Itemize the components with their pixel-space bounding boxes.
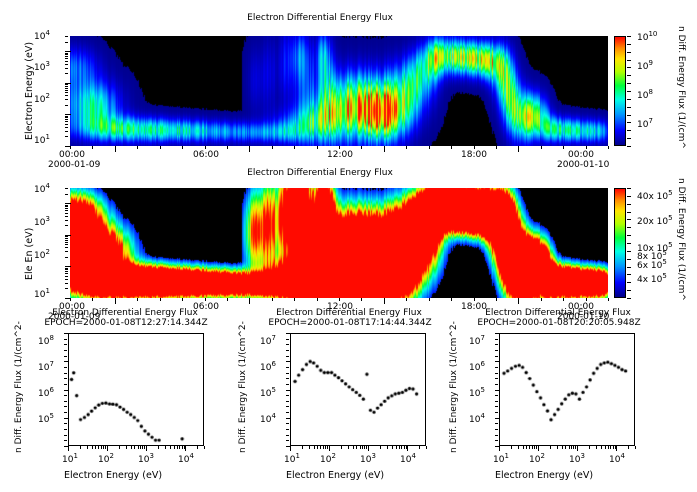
x-minor-tick (204, 446, 205, 449)
y-minor-tick (65, 216, 68, 217)
y-minor-tick (65, 136, 68, 137)
xtick-exponent: 4 (620, 452, 624, 460)
x-minor-tick (605, 446, 606, 449)
x-minor-tick (348, 446, 349, 449)
spectrum-1-ytick-2: 106 (38, 389, 54, 399)
y-minor-tick (65, 236, 68, 237)
panel-top-cbtick-1: 109 (637, 62, 653, 72)
y-minor-tick (65, 92, 68, 93)
x-minor-tick (429, 146, 430, 149)
x-minor-tick (320, 446, 321, 449)
colorbar-tick (627, 122, 631, 123)
y-minor-tick (65, 242, 68, 243)
cbtick-mantissa: 10 (637, 62, 648, 72)
y-minor-tick (495, 418, 500, 419)
y-minor-tick (65, 119, 68, 120)
colorbar-tick (627, 75, 631, 76)
x-minor-tick (325, 446, 326, 449)
x-minor-tick (362, 446, 363, 449)
x-minor-tick (182, 146, 183, 149)
x-minor-tick (364, 446, 365, 449)
ytick-mantissa: 10 (38, 337, 49, 347)
x-minor-tick (137, 146, 138, 149)
colorbar-tick (627, 115, 631, 116)
y-minor-tick (65, 194, 68, 195)
spectrum-3-ylabel-wrap: n Diff. Energy Flux (1/(cm^2- (449, 453, 581, 463)
y-minor-tick (65, 240, 68, 241)
y-minor-tick (65, 238, 68, 239)
ytick-exponent: 4 (45, 182, 49, 190)
y-minor-tick (495, 429, 498, 430)
xtick-mantissa: 10 (320, 455, 331, 465)
spectrum-3-title: Electron Differential Energy Flux (463, 308, 653, 318)
x-minor-tick (406, 146, 407, 149)
x-minor-tick (323, 446, 324, 449)
colorbar-tick (627, 251, 631, 252)
y-minor-tick (64, 423, 67, 424)
panel-middle-ytick-4: 104 (34, 185, 50, 195)
spectrum-3-plot (499, 333, 635, 446)
x-minor-tick (541, 146, 542, 149)
y-minor-tick (65, 131, 68, 132)
y-minor-tick (495, 406, 498, 407)
spectrum-1-ylabel-wrap: n Diff. Energy Flux (1/(cm^2- (14, 453, 146, 463)
x-minor-tick (177, 446, 178, 449)
colorbar-tick (627, 212, 631, 213)
colorbar-tick (627, 196, 631, 197)
spectrum-3-ytick-2: 105 (469, 389, 485, 399)
y-minor-tick (495, 373, 498, 374)
colorbar-tick (627, 219, 631, 220)
y-minor-tick (286, 339, 289, 340)
colorbar-tick (627, 83, 631, 84)
xtick-mantissa: 10 (98, 455, 109, 465)
ytick-exponent: 4 (271, 412, 275, 420)
x-minor-tick (227, 298, 228, 301)
x-minor-tick (608, 298, 609, 301)
x-minor-tick (426, 446, 427, 449)
ytick-mantissa: 10 (34, 218, 45, 228)
ytick-exponent: 5 (49, 412, 53, 420)
spectrum-2-ylabel-wrap: n Diff. Energy Flux (1/(cm^2- (238, 453, 370, 463)
y-minor-tick (64, 418, 69, 419)
x-minor-tick (589, 446, 590, 449)
x-minor-tick (526, 446, 527, 449)
y-minor-tick (495, 412, 498, 413)
xtick-exponent: 4 (189, 452, 193, 460)
xtick-mantissa: 10 (529, 455, 540, 465)
panel-top-ytick-4: 104 (34, 32, 50, 42)
x-minor-tick (92, 146, 93, 149)
ytick-exponent: 1 (45, 133, 49, 141)
ytick-exponent: 7 (49, 360, 53, 368)
y-minor-tick (65, 127, 68, 128)
x-minor-tick (103, 446, 104, 449)
y-minor-tick (495, 384, 498, 385)
y-minor-tick (286, 344, 289, 345)
x-minor-tick (361, 298, 362, 301)
spectrum-1-xlabel: Electron Energy (eV) (64, 470, 162, 481)
y-minor-tick (65, 268, 68, 269)
x-minor-tick (339, 298, 340, 301)
spectrum-1-xtick-2: 103 (138, 455, 154, 465)
x-minor-tick (115, 298, 116, 304)
cbtick-exponent: 9 (648, 59, 652, 67)
x-minor-tick (179, 446, 180, 449)
y-minor-tick (495, 361, 500, 362)
ytick-exponent: 1 (45, 287, 49, 295)
x-minor-tick (294, 298, 295, 301)
x-minor-tick (87, 446, 88, 449)
ytick-mantissa: 10 (469, 363, 480, 373)
x-minor-tick (80, 446, 81, 449)
xtick-exponent: 1 (295, 452, 299, 460)
ytick-mantissa: 10 (34, 251, 45, 261)
y-minor-tick (64, 406, 67, 407)
panel-middle-colorbar (614, 188, 626, 298)
y-minor-tick (65, 90, 68, 91)
spectrum-panel-3: Electron Differential Energy Flux EPOCH=… (455, 305, 697, 492)
x-minor-tick (557, 446, 558, 449)
x-minor-tick (586, 298, 587, 301)
x-minor-tick (596, 446, 597, 449)
ytick-exponent: 6 (480, 360, 484, 368)
x-minor-tick (429, 298, 430, 301)
x-minor-tick (170, 446, 171, 449)
y-minor-tick (495, 435, 498, 436)
spectrum-2-ytick-1: 106 (260, 363, 276, 373)
colorbar-tick (627, 99, 631, 100)
xtick-mantissa: 10 (360, 455, 371, 465)
x-minor-tick (538, 446, 539, 451)
x-minor-tick (511, 446, 512, 449)
ytick-exponent: 3 (45, 60, 49, 68)
x-minor-tick (569, 446, 570, 449)
y-minor-tick (65, 188, 68, 189)
ytick-mantissa: 10 (34, 63, 45, 73)
panel-middle-cblabel-wrap: n Diff. Energy Flux (1/(cm^ (686, 178, 697, 188)
colorbar-tick (627, 267, 631, 268)
y-minor-tick (286, 356, 289, 357)
x-minor-tick (341, 446, 342, 449)
y-minor-tick (65, 86, 68, 87)
panel-top-cbtick-3: 107 (637, 120, 653, 130)
y-minor-tick (65, 124, 68, 125)
x-minor-tick (309, 446, 310, 449)
y-minor-tick (65, 73, 68, 74)
y-minor-tick (64, 384, 67, 385)
y-minor-tick (65, 95, 68, 96)
xtick-exponent: 1 (504, 452, 508, 460)
spectrum-3-xtick-2: 103 (569, 455, 585, 465)
x-minor-tick (353, 446, 354, 449)
ytick-exponent: 6 (49, 386, 53, 394)
y-minor-tick (65, 105, 68, 106)
cbtick-mantissa: 10 (637, 33, 648, 43)
y-minor-tick (286, 435, 289, 436)
x-minor-tick (95, 446, 96, 449)
y-minor-tick (286, 412, 289, 413)
y-minor-tick (495, 395, 498, 396)
spectrum-3-xtick-0: 101 (493, 455, 509, 465)
x-minor-tick (70, 146, 71, 149)
x-minor-tick (356, 446, 357, 449)
colorbar-tick (627, 204, 631, 205)
x-minor-tick (126, 446, 127, 449)
xtick-exponent: 2 (540, 452, 544, 460)
y-minor-tick (65, 276, 68, 277)
x-minor-tick (227, 146, 228, 149)
x-minor-tick (523, 446, 524, 449)
y-minor-tick (64, 373, 67, 374)
x-minor-tick (160, 146, 161, 149)
x-minor-tick (142, 446, 143, 449)
panel-middle-ylabel-wrap: Ele En (eV) (24, 280, 76, 291)
x-minor-tick (518, 446, 519, 449)
spectrum-2-ytick-0: 107 (260, 337, 276, 347)
x-minor-tick (404, 446, 405, 449)
colorbar-tick (627, 259, 631, 260)
spectrum-1-ylabel: n Diff. Energy Flux (1/(cm^2- (14, 321, 24, 453)
spectrum-2-plot (290, 333, 426, 446)
colorbar-tick (627, 67, 631, 68)
y-minor-tick (65, 283, 68, 284)
colorbar-tick (627, 138, 631, 139)
x-minor-tick (134, 446, 135, 449)
ytick-exponent: 2 (45, 248, 49, 256)
x-minor-tick (205, 146, 206, 149)
spectrum-2-epoch: EPOCH=2000-01-08T17:14:44.344Z (250, 318, 450, 328)
cbtick-exponent: 8 (648, 88, 652, 96)
x-minor-tick (339, 146, 340, 149)
x-minor-tick (182, 446, 183, 449)
x-minor-tick (577, 446, 578, 451)
y-minor-tick (495, 446, 500, 447)
panel-top-colorbar (614, 36, 626, 146)
y-minor-tick (64, 390, 69, 391)
x-minor-tick (272, 146, 273, 149)
cbtick-exponent: 5 (662, 249, 666, 257)
y-minor-tick (286, 373, 289, 374)
cbtick-exponent: 5 (662, 272, 666, 280)
y-minor-tick (64, 412, 67, 413)
x-minor-tick (182, 298, 183, 301)
x-minor-tick (407, 446, 408, 451)
spectrum-panel-2: Electron Differential Energy Flux EPOCH=… (232, 305, 464, 492)
ytick-exponent: 2 (45, 92, 49, 100)
ytick-exponent: 7 (271, 334, 275, 342)
spectrum-3-ylabel: n Diff. Energy Flux (1/(cm^2- (449, 321, 459, 453)
cbtick-mantissa: 20x 10 (637, 217, 668, 227)
x-minor-tick (185, 446, 186, 451)
cbtick-mantissa: 4x 10 (637, 275, 662, 285)
spectrum-2-ytick-3: 104 (260, 415, 276, 425)
x-minor-tick (98, 446, 99, 449)
xtick-mantissa: 10 (178, 455, 189, 465)
spectrum-2-ylabel: n Diff. Energy Flux (1/(cm^2- (238, 321, 248, 453)
ytick-exponent: 5 (271, 386, 275, 394)
ytick-mantissa: 10 (34, 32, 45, 42)
ytick-mantissa: 10 (469, 389, 480, 399)
spectrum-1-plot (68, 333, 204, 446)
x-minor-tick (165, 446, 166, 449)
y-minor-tick (286, 429, 289, 430)
spectrum-2-xtick-0: 101 (284, 455, 300, 465)
x-minor-tick (451, 146, 452, 149)
panel-top-ytick-2: 102 (34, 95, 50, 105)
x-minor-tick (586, 146, 587, 149)
panel-middle-ytick-1: 101 (34, 290, 50, 300)
spectrum-1-ytick-1: 107 (38, 363, 54, 373)
y-minor-tick (64, 361, 69, 362)
colorbar-tick (627, 188, 631, 189)
y-minor-tick (65, 36, 68, 37)
y-minor-tick (65, 257, 68, 258)
y-minor-tick (65, 117, 68, 118)
y-minor-tick (495, 356, 498, 357)
y-minor-tick (65, 288, 68, 289)
x-minor-tick (329, 446, 330, 451)
panel-middle-spectrogram (70, 188, 608, 298)
y-minor-tick (286, 390, 291, 391)
y-minor-tick (65, 279, 68, 280)
panel-top-cblabel-wrap: n Diff. Energy Flux (1/(cm^ (686, 26, 697, 36)
y-minor-tick (495, 339, 498, 340)
y-minor-tick (64, 446, 69, 447)
spectrum-3-xtick-1: 102 (529, 455, 545, 465)
y-minor-tick (65, 273, 68, 274)
x-minor-tick (249, 146, 250, 152)
xtick-exponent: 2 (109, 452, 113, 460)
ytick-mantissa: 10 (260, 337, 271, 347)
spectrum-3-epoch: EPOCH=2000-01-08T20:20:05.948Z (459, 318, 659, 328)
colorbar-tick (627, 91, 631, 92)
x-minor-tick (550, 446, 551, 449)
xtick-exponent: 3 (149, 452, 153, 460)
y-minor-tick (286, 384, 289, 385)
y-minor-tick (286, 446, 291, 447)
spectrum-2-xtick-3: 104 (400, 455, 416, 465)
panel-middle-cbtick-4: 6x 105 (637, 261, 667, 271)
x-minor-tick (396, 446, 397, 449)
colorbar-tick (627, 243, 631, 244)
y-minor-tick (64, 429, 67, 430)
x-minor-tick (474, 298, 475, 301)
ytick-mantissa: 10 (34, 290, 45, 300)
y-minor-tick (65, 206, 68, 207)
panel-middle-cbtick-0: 40x 105 (637, 192, 673, 202)
y-minor-tick (495, 401, 498, 402)
spectrum-2-xlabel: Electron Energy (eV) (286, 470, 384, 481)
x-minor-tick (419, 446, 420, 449)
x-minor-tick (534, 446, 535, 449)
x-minor-tick (563, 298, 564, 301)
panel-top-xtick-0: 00:00 (59, 150, 85, 160)
y-minor-tick (286, 350, 289, 351)
x-minor-tick (451, 298, 452, 301)
x-minor-tick (205, 298, 206, 301)
ytick-mantissa: 10 (38, 363, 49, 373)
x-minor-tick (272, 298, 273, 301)
x-minor-tick (613, 446, 614, 449)
x-minor-tick (562, 446, 563, 449)
x-minor-tick (138, 446, 139, 449)
y-minor-tick (495, 344, 498, 345)
y-minor-tick (65, 208, 68, 209)
y-minor-tick (65, 121, 68, 122)
y-minor-tick (286, 367, 289, 368)
cbtick-exponent: 5 (662, 258, 666, 266)
panel-top-xtick-1: 06:00 (193, 150, 219, 160)
y-minor-tick (65, 271, 68, 272)
x-minor-tick (380, 446, 381, 449)
y-minor-tick (65, 203, 71, 204)
panel-top: Electron Differential Energy Flux Electr… (0, 0, 697, 175)
panel-middle: Electron Differential Energy Flux Ele En… (0, 160, 697, 325)
x-minor-tick (70, 298, 71, 301)
panel-top-colorbar-label: n Diff. Energy Flux (1/(cm^ (676, 26, 686, 149)
xtick-mantissa: 10 (400, 455, 411, 465)
colorbar-tick (627, 227, 631, 228)
spectrum-2-ytick-2: 105 (260, 389, 276, 399)
panel-middle-colorbar-label: n Diff. Energy Flux (1/(cm^ (676, 178, 686, 301)
xtick-exponent: 3 (580, 452, 584, 460)
x-minor-tick (197, 446, 198, 449)
panel-top-xtick-3: 18:00 (461, 150, 487, 160)
y-minor-tick (65, 210, 68, 211)
x-minor-tick (146, 446, 147, 451)
y-minor-tick (65, 266, 71, 267)
spectrum-1-xtick-0: 101 (62, 455, 78, 465)
y-minor-tick (286, 418, 291, 419)
y-minor-tick (64, 401, 67, 402)
panel-middle-ytick-3: 103 (34, 218, 50, 228)
panel-middle-ytick-2: 102 (34, 251, 50, 261)
y-minor-tick (64, 344, 67, 345)
x-minor-tick (565, 446, 566, 449)
x-minor-tick (387, 446, 388, 449)
panel-top-xtick-4: 00:00 (568, 150, 594, 160)
y-minor-tick (65, 116, 68, 117)
xtick-exponent: 1 (73, 452, 77, 460)
y-minor-tick (286, 401, 289, 402)
y-minor-tick (65, 61, 68, 62)
xtick-mantissa: 10 (62, 455, 73, 465)
y-minor-tick (286, 440, 289, 441)
x-minor-tick (518, 298, 519, 304)
x-minor-tick (115, 146, 116, 152)
y-minor-tick (65, 225, 68, 226)
colorbar-tick (627, 290, 631, 291)
x-minor-tick (529, 446, 530, 449)
y-minor-tick (65, 54, 68, 55)
x-minor-tick (317, 298, 318, 301)
x-minor-tick (573, 446, 574, 449)
y-minor-tick (65, 42, 68, 43)
spectrum-2-xtick-2: 103 (360, 455, 376, 465)
spectrum-3-ytick-1: 106 (469, 363, 485, 373)
y-minor-tick (495, 440, 498, 441)
x-minor-tick (107, 446, 108, 451)
spectrum-2-xtick-1: 102 (320, 455, 336, 465)
xtick-exponent: 2 (331, 452, 335, 460)
ytick-mantissa: 10 (34, 136, 45, 146)
x-minor-tick (628, 446, 629, 449)
y-minor-tick (64, 395, 67, 396)
ytick-exponent: 4 (45, 29, 49, 37)
x-minor-tick (249, 298, 250, 304)
panel-top-xtick-2: 12:00 (327, 150, 353, 160)
